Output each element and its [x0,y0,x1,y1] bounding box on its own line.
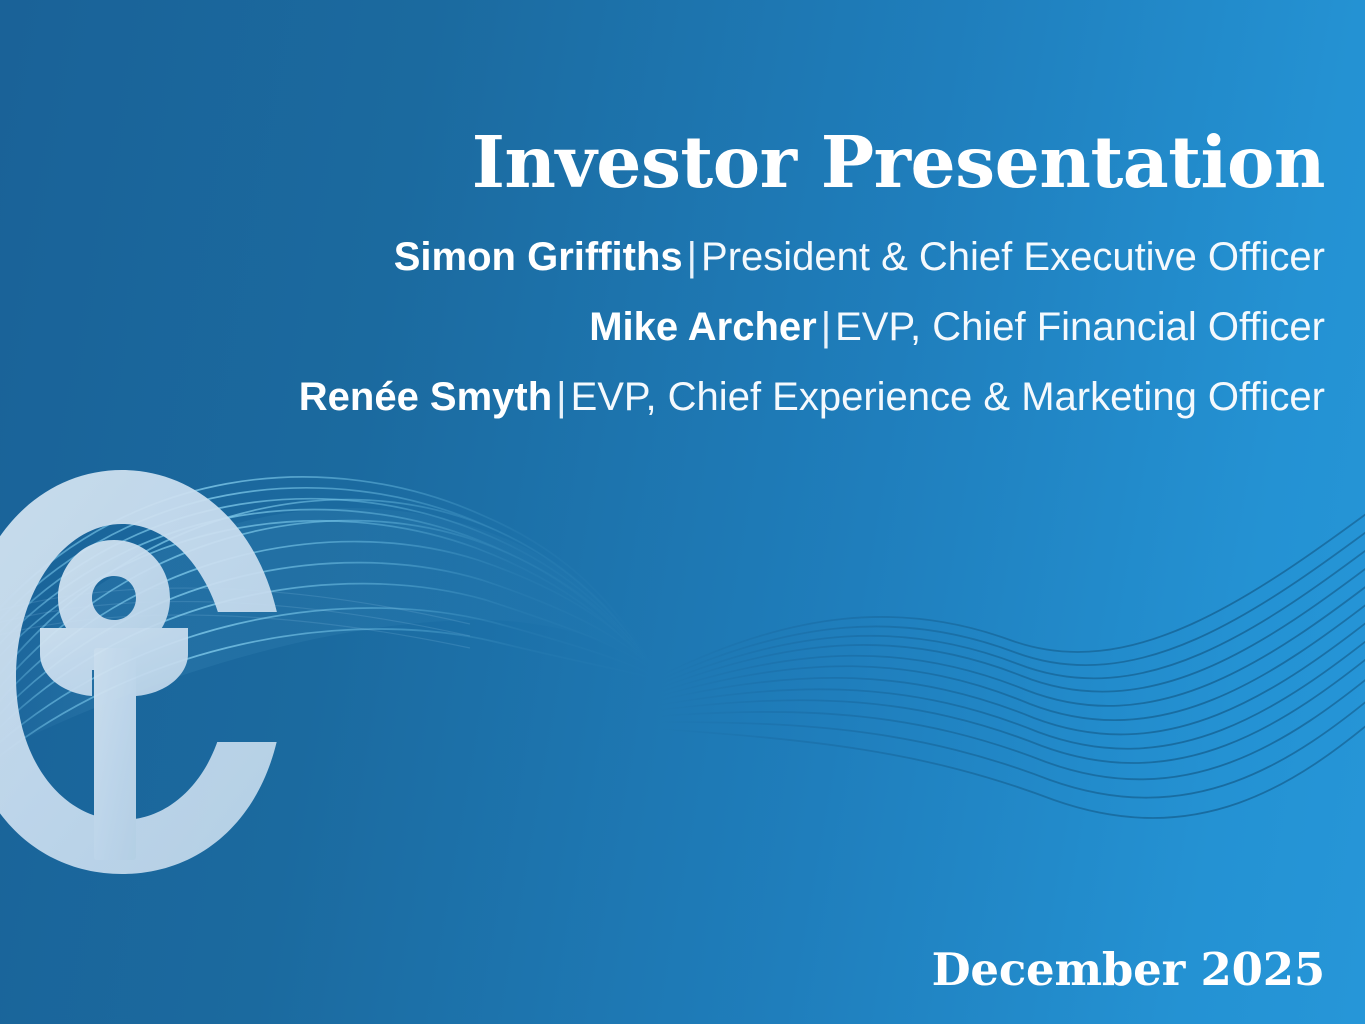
presenter-separator: | [817,305,835,349]
logo-anchor [40,540,188,860]
presenter-role: EVP, Chief Experience & Marketing Office… [571,375,1325,419]
logo-c-ring [0,470,284,874]
presenter-role: President & Chief Executive Officer [701,235,1325,279]
presenter-row-1: Mike Archer|EVP, Chief Financial Officer [0,292,1325,362]
slide-date: December 2025 [932,947,1325,992]
presenter-role: EVP, Chief Financial Officer [835,305,1325,349]
presenter-name: Renée Smyth [299,375,552,419]
presenter-name: Mike Archer [589,305,817,349]
presenter-separator: | [552,375,570,419]
presenter-separator: | [683,235,701,279]
presenter-row-2: Renée Smyth|EVP, Chief Experience & Mark… [0,362,1325,432]
presenter-name: Simon Griffiths [394,235,683,279]
slide-text-block: Investor Presentation Simon Griffiths|Pr… [0,0,1365,432]
page-title: Investor Presentation [0,0,1325,200]
presenter-row-0: Simon Griffiths|President & Chief Execut… [0,222,1325,292]
presenter-list: Simon Griffiths|President & Chief Execut… [0,222,1325,432]
investor-presentation-title-slide: Investor Presentation Simon Griffiths|Pr… [0,0,1365,1024]
anchor-in-c-logo [0,462,294,882]
